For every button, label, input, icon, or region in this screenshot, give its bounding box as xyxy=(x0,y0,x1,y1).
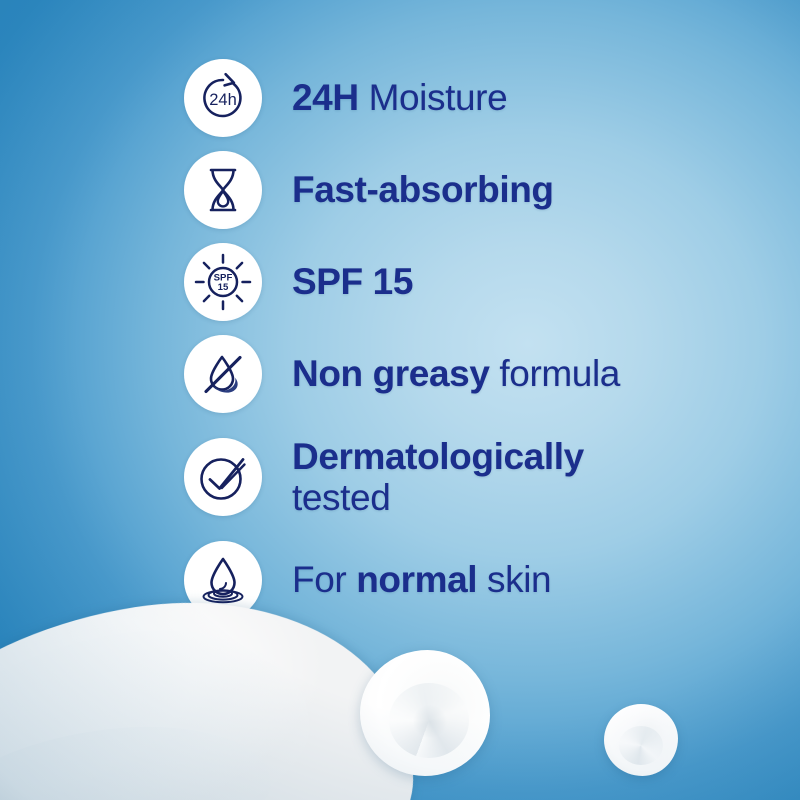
sun-spf-icon: SPF 15 xyxy=(194,253,252,311)
feature-row-spf-15: SPF 15 SPF 15 xyxy=(184,236,784,328)
feature-label: 24H Moisture xyxy=(292,77,507,118)
feature-second-line: tested xyxy=(292,477,584,518)
icon-badge xyxy=(184,438,262,516)
feature-label: Non greasy formula xyxy=(292,353,620,394)
feature-bold-text: Dermatologically xyxy=(292,436,584,477)
feature-row-for-normal-skin: For normal skin xyxy=(184,534,784,626)
feature-bold-text: Fast-absorbing xyxy=(292,169,554,210)
feature-row-non-greasy: Non greasy formula xyxy=(184,328,784,420)
feature-bold-text: normal xyxy=(356,559,477,600)
feature-regular-text: skin xyxy=(477,559,551,600)
checkmark-circle-icon xyxy=(194,448,252,506)
24h-clock-arrow-icon: 24h xyxy=(195,70,251,126)
feature-regular-text: Moisture xyxy=(359,77,508,118)
feature-label: SPF 15 xyxy=(292,261,413,302)
feature-label: For normal skin xyxy=(292,559,551,600)
cream-dollop-small xyxy=(604,704,678,776)
cream-smear-highlight xyxy=(0,601,326,800)
feature-row-fast-absorbing: Fast-absorbing xyxy=(184,144,784,236)
no-grease-droplet-slash-icon xyxy=(195,346,251,402)
icon-badge xyxy=(184,335,262,413)
icon-badge xyxy=(184,151,262,229)
spf-icon-label-bottom: 15 xyxy=(218,282,229,293)
feature-bold-text: Non greasy xyxy=(292,353,490,394)
cream-smear-highlight-secondary xyxy=(0,710,276,800)
feature-regular-text: formula xyxy=(490,353,620,394)
feature-list: 24h 24H Moisture xyxy=(184,52,784,626)
hourglass-droplet-icon xyxy=(196,163,250,217)
feature-label: Fast-absorbing xyxy=(292,169,554,210)
icon-badge: SPF 15 xyxy=(184,243,262,321)
icon-badge: 24h xyxy=(184,59,262,137)
feature-bold-text: SPF 15 xyxy=(292,261,413,302)
product-feature-banner: 24h 24H Moisture xyxy=(0,0,800,800)
icon-badge xyxy=(184,541,262,619)
water-droplet-ripple-icon xyxy=(195,552,251,608)
24h-icon-label: 24h xyxy=(209,91,237,109)
feature-row-dermatologically-tested: Dermatologically tested xyxy=(184,420,784,534)
feature-row-24h-moisture: 24h 24H Moisture xyxy=(184,52,784,144)
feature-bold-text: 24H xyxy=(292,77,359,118)
cream-dollop-large xyxy=(360,650,490,776)
feature-label: Dermatologically tested xyxy=(292,436,584,519)
feature-regular-prefix: For xyxy=(292,559,356,600)
